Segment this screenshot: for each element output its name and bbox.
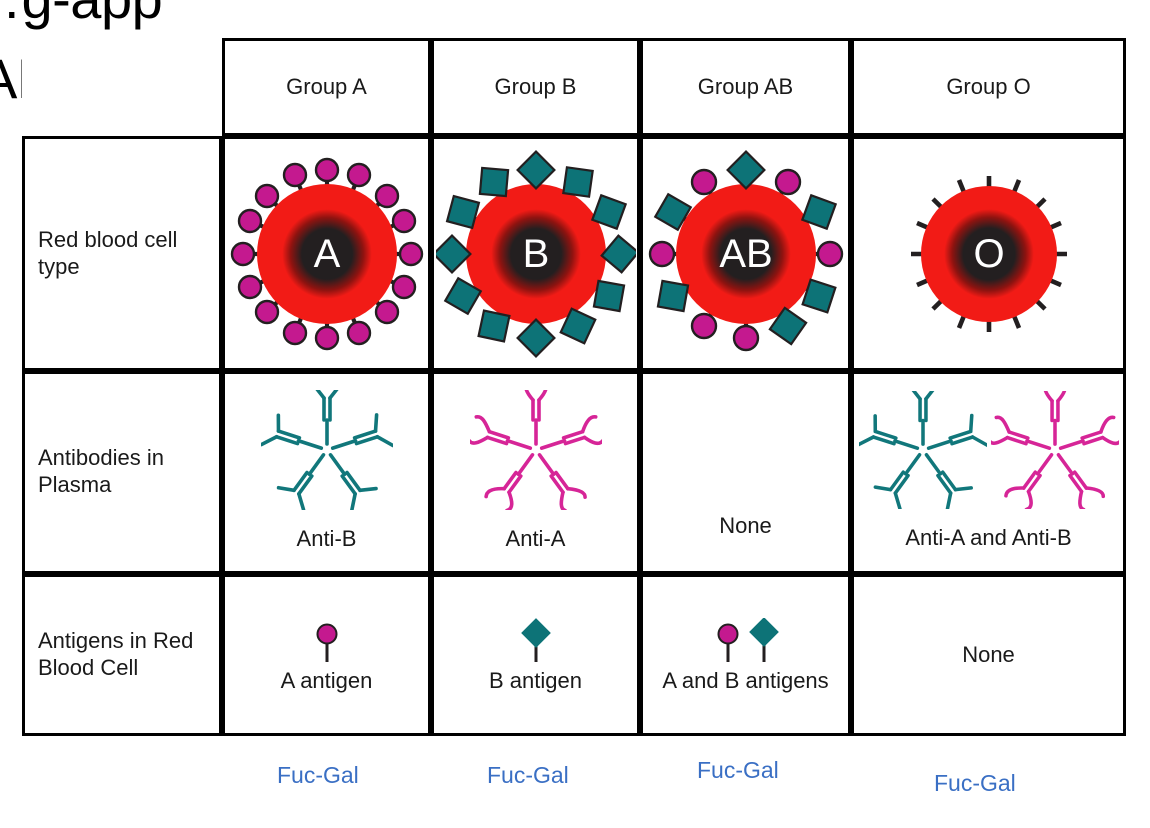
red-blood-cell-icon: AB bbox=[644, 142, 848, 366]
cell-antigens-group-b: B antigen bbox=[431, 574, 640, 736]
cell-letter-b: B bbox=[522, 232, 549, 276]
caption-antigens-group-ab: A and B antigens bbox=[662, 668, 828, 694]
cell-antigens-group-a: A antigen bbox=[222, 574, 431, 736]
cell-letter-o: O bbox=[973, 232, 1004, 276]
caption-antigens-group-o: None bbox=[962, 642, 1015, 668]
cell-antibodies-group-ab: None bbox=[640, 371, 851, 574]
cell-rbc-group-ab: AB bbox=[640, 136, 851, 371]
clipped-heading-top: …g-app bbox=[0, 0, 162, 31]
table-corner-blank bbox=[22, 38, 222, 136]
teal-antibody-star-icon bbox=[859, 391, 987, 509]
teal-diamond-antigen-icon bbox=[749, 618, 779, 666]
row-label-antibodies-in-plasma: Antibodies in Plasma bbox=[22, 371, 222, 574]
teal-diamond-antigen-icon bbox=[519, 618, 553, 666]
abo-blood-group-table: Group A Group B Group AB Group O Red blo… bbox=[22, 38, 1126, 736]
column-header-group-ab: Group AB bbox=[640, 38, 851, 136]
red-blood-cell-icon: B bbox=[436, 142, 636, 366]
cell-antigens-group-ab: A and B antigens bbox=[640, 574, 851, 736]
table-header-row: Group A Group B Group AB Group O bbox=[22, 38, 1126, 136]
red-blood-cell-icon: A bbox=[227, 142, 427, 366]
table-row-red-blood-cell-type: Red blood cell type bbox=[22, 136, 1126, 371]
caption-antibodies-group-o: Anti-A and Anti-B bbox=[905, 525, 1071, 551]
cell-rbc-group-o: O bbox=[851, 136, 1126, 371]
cell-rbc-group-a: A bbox=[222, 136, 431, 371]
cell-letter-ab: AB bbox=[719, 232, 772, 276]
caption-antibodies-group-a: Anti-B bbox=[297, 526, 357, 552]
row-label-antigens-in-red-blood-cell: Antigens in Red Blood Cell bbox=[22, 574, 222, 736]
cell-antibodies-group-a: Anti-B bbox=[222, 371, 431, 574]
fuc-gal-label-group-b: Fuc-Gal bbox=[487, 762, 569, 789]
magenta-antibody-star-icon bbox=[991, 391, 1119, 509]
table-row-antibodies-in-plasma: Antibodies in Plasma bbox=[22, 371, 1126, 574]
cell-antibodies-group-b: Anti-A bbox=[431, 371, 640, 574]
cell-antibodies-group-o: Anti-A and Anti-B bbox=[851, 371, 1126, 574]
fuc-gal-label-group-ab: Fuc-Gal bbox=[697, 757, 779, 784]
caption-antigens-group-b: B antigen bbox=[489, 668, 582, 694]
caption-antibodies-group-ab: None bbox=[719, 513, 772, 539]
cell-rbc-group-b: B bbox=[431, 136, 640, 371]
table-row-antigens-in-red-blood-cell: Antigens in Red Blood Cell A antigen bbox=[22, 574, 1126, 736]
fuc-gal-label-group-o: Fuc-Gal bbox=[934, 770, 1016, 797]
caption-antibodies-group-b: Anti-A bbox=[506, 526, 566, 552]
magenta-circle-antigen-icon bbox=[310, 618, 344, 666]
caption-antigens-group-a: A antigen bbox=[281, 668, 373, 694]
row-label-red-blood-cell-type: Red blood cell type bbox=[22, 136, 222, 371]
column-header-group-a: Group A bbox=[222, 38, 431, 136]
magenta-circle-antigen-icon bbox=[713, 618, 743, 666]
cell-letter-a: A bbox=[313, 232, 340, 276]
red-blood-cell-icon: O bbox=[894, 142, 1084, 366]
column-header-group-o: Group O bbox=[851, 38, 1126, 136]
fuc-gal-label-group-a: Fuc-Gal bbox=[277, 762, 359, 789]
cell-antigens-group-o: None bbox=[851, 574, 1126, 736]
teal-antibody-star-icon bbox=[261, 390, 393, 510]
column-header-group-b: Group B bbox=[431, 38, 640, 136]
magenta-antibody-star-icon bbox=[470, 390, 602, 510]
